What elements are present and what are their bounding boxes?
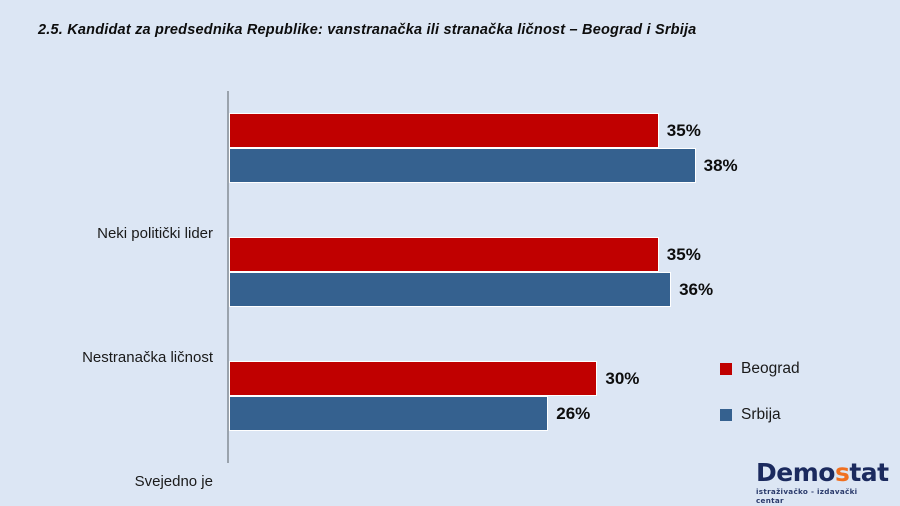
bar-srbija-0[interactable]	[229, 148, 696, 183]
category-label-2: Svejedno je	[3, 473, 213, 490]
logo-word-part2: tat	[849, 458, 888, 487]
legend-swatch-beograd	[720, 363, 732, 375]
legend-item-srbija[interactable]: Srbija	[720, 406, 781, 424]
category-label-0: Neki politički lider	[3, 225, 213, 242]
category-label-1: Nestranačka ličnost	[3, 349, 213, 366]
bar-srbija-1[interactable]	[229, 272, 671, 307]
logo-word-accent: s	[835, 458, 849, 487]
legend-item-beograd[interactable]: Beograd	[720, 360, 800, 378]
chart-root: 2.5. Kandidat za predsednika Republike: …	[0, 0, 900, 506]
logo-word-part1: Demo	[756, 458, 835, 487]
bar-value-srbija-2: 26%	[556, 404, 590, 424]
bar-srbija-2[interactable]	[229, 396, 548, 431]
bar-value-beograd-1: 35%	[667, 245, 701, 265]
category-label-column: Neki politički lider Nestranačka ličnost…	[0, 91, 213, 463]
legend-label-beograd: Beograd	[741, 360, 800, 378]
bar-beograd-1[interactable]	[229, 237, 659, 272]
logo-tagline: istraživačko - izdavački centar	[756, 487, 888, 505]
plot-area: 35% 38% 35% 36% 30%	[227, 91, 787, 463]
logo-wordmark: Demostat	[756, 460, 888, 486]
bar-value-beograd-2: 30%	[605, 369, 639, 389]
demostat-logo: Demostat istraživačko - izdavački centar	[756, 460, 888, 500]
chart-title: 2.5. Kandidat za predsednika Republike: …	[38, 22, 868, 38]
bar-beograd-0[interactable]	[229, 113, 659, 148]
bar-value-beograd-0: 35%	[667, 121, 701, 141]
legend-label-srbija: Srbija	[741, 406, 781, 424]
bar-value-srbija-0: 38%	[704, 156, 738, 176]
bar-beograd-2[interactable]	[229, 361, 597, 396]
legend-swatch-srbija	[720, 409, 732, 421]
bar-value-srbija-1: 36%	[679, 280, 713, 300]
